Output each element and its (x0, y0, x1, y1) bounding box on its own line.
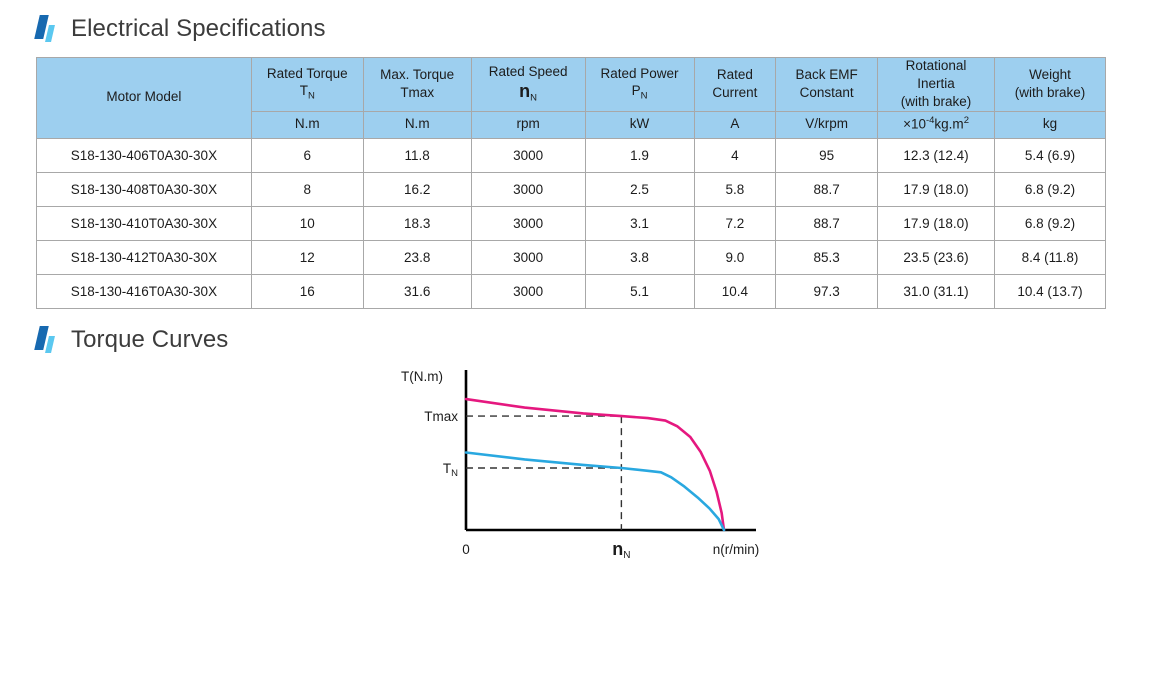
column-header-rated-torque-label: Rated Torque (267, 66, 348, 81)
cell-inertia: 12.3 (12.4) (878, 138, 995, 172)
cell-weight: 10.4 (13.7) (995, 274, 1106, 308)
chart-ytick-tn: TN (443, 461, 458, 479)
cell-rated-torque: 12 (251, 240, 363, 274)
table-body: S18-130-406T0A30-30X611.830001.949512.3 … (37, 138, 1106, 308)
column-header-rated-current-line2: Current (698, 85, 773, 102)
column-header-back-emf-line2: Constant (779, 85, 874, 102)
cell-max-torque: 23.8 (363, 240, 471, 274)
marker-bar-light-icon-2 (45, 336, 55, 353)
cell-rated-current: 7.2 (694, 206, 776, 240)
cell-weight: 6.8 (9.2) (995, 172, 1106, 206)
column-header-rated-power-label: Rated Power (601, 66, 679, 81)
chart-xtick-rated-speed: nN (612, 539, 630, 561)
symbol-P: P (632, 83, 641, 98)
cell-rated-torque: 8 (251, 172, 363, 206)
cell-inertia: 31.0 (31.1) (878, 274, 995, 308)
column-header-rated-power: Rated Power PN (585, 58, 694, 112)
section-heading-torque-curves: Torque Curves (0, 325, 1150, 355)
chart-ytick-tn-symbol: T (443, 461, 451, 476)
cell-rated-speed: 3000 (471, 206, 585, 240)
inertia-unit-suffix: kg.m (934, 117, 963, 132)
cell-inertia: 23.5 (23.6) (878, 240, 995, 274)
column-header-rated-speed-symbol: nN (475, 82, 582, 105)
cell-rated-speed: 3000 (471, 138, 585, 172)
cell-max-torque: 31.6 (363, 274, 471, 308)
cell-model: S18-130-416T0A30-30X (37, 274, 252, 308)
cell-back-emf: 85.3 (776, 240, 878, 274)
cell-back-emf: 97.3 (776, 274, 878, 308)
chart-ytick-tn-subscript: N (451, 468, 458, 479)
column-header-rated-speed-label: Rated Speed (489, 64, 568, 79)
column-header-rated-torque: Rated Torque TN (251, 58, 363, 112)
table-row: S18-130-406T0A30-30X611.830001.949512.3 … (37, 138, 1106, 172)
cell-rated-power: 2.5 (585, 172, 694, 206)
column-header-inertia-line3: (with brake) (881, 94, 991, 111)
symbol-P-subscript: N (641, 91, 648, 102)
column-header-back-emf-constant: Back EMF Constant (776, 58, 878, 112)
cell-rated-speed: 3000 (471, 274, 585, 308)
table-row: S18-130-410T0A30-30X1018.330003.17.288.7… (37, 206, 1106, 240)
column-header-weight: Weight (with brake) (995, 58, 1106, 112)
page-title-torque-curves: Torque Curves (71, 326, 228, 354)
table-header: Motor Model Rated Torque TN Max. Torque … (37, 58, 1106, 139)
unit-header-rated-power: kW (585, 111, 694, 138)
column-header-weight-line2: (with brake) (998, 85, 1102, 102)
table-row: S18-130-412T0A30-30X1223.830003.89.085.3… (37, 240, 1106, 274)
cell-rated-torque: 6 (251, 138, 363, 172)
section-marker-icon (36, 14, 58, 44)
cell-rated-current: 4 (694, 138, 776, 172)
symbol-n-subscript: N (530, 93, 537, 104)
torque-curve-chart: T(N.m) Tmax TN 0 nN n(r/min) (36, 361, 1106, 581)
electrical-specifications-table: Motor Model Rated Torque TN Max. Torque … (36, 57, 1106, 309)
chart-xtick-origin: 0 (462, 542, 470, 557)
chart-series-max-torque (466, 399, 724, 530)
chart-xtick-rated-speed-symbol: n (612, 539, 623, 559)
table-row: S18-130-408T0A30-30X816.230002.55.888.71… (37, 172, 1106, 206)
column-header-rated-torque-symbol: TN (255, 83, 360, 103)
cell-max-torque: 11.8 (363, 138, 471, 172)
marker-bar-light-icon (45, 25, 55, 42)
table-header-row-primary: Motor Model Rated Torque TN Max. Torque … (37, 58, 1106, 112)
cell-rated-speed: 3000 (471, 240, 585, 274)
symbol-T-subscript: N (308, 91, 315, 102)
inertia-unit-suffix-exponent: 2 (964, 115, 969, 126)
cell-weight: 5.4 (6.9) (995, 138, 1106, 172)
column-header-max-torque-symbol: Tmax (367, 85, 468, 102)
cell-max-torque: 18.3 (363, 206, 471, 240)
cell-rated-power: 3.8 (585, 240, 694, 274)
cell-inertia: 17.9 (18.0) (878, 172, 995, 206)
torque-curves-section: Torque Curves T(N.m) Tmax TN 0 nN n(r/mi… (0, 309, 1150, 581)
column-header-back-emf-line1: Back EMF (795, 67, 857, 82)
column-header-rated-speed: Rated Speed nN (471, 58, 585, 112)
cell-inertia: 17.9 (18.0) (878, 206, 995, 240)
column-header-max-torque: Max. Torque Tmax (363, 58, 471, 112)
cell-rated-speed: 3000 (471, 172, 585, 206)
unit-header-back-emf: V/krpm (776, 111, 878, 138)
cell-model: S18-130-410T0A30-30X (37, 206, 252, 240)
cell-rated-torque: 10 (251, 206, 363, 240)
cell-back-emf: 95 (776, 138, 878, 172)
chart-series-rated-torque (466, 452, 724, 530)
column-header-inertia-line2: Inertia (881, 76, 991, 93)
unit-header-max-torque: N.m (363, 111, 471, 138)
cell-rated-power: 1.9 (585, 138, 694, 172)
unit-header-weight: kg (995, 111, 1106, 138)
cell-rated-current: 9.0 (694, 240, 776, 274)
column-header-rotational-inertia: Rotational Inertia (with brake) (878, 58, 995, 112)
section-heading-electrical-specifications: Electrical Specifications (0, 0, 1150, 44)
symbol-T: T (300, 83, 308, 98)
column-header-weight-line1: Weight (1029, 67, 1071, 82)
column-header-motor-model: Motor Model (37, 58, 252, 139)
chart-ytick-tmax: Tmax (424, 409, 458, 424)
spec-table-container: Motor Model Rated Torque TN Max. Torque … (0, 44, 1150, 309)
table-row: S18-130-416T0A30-30X1631.630005.110.497.… (37, 274, 1106, 308)
torque-curve-svg: T(N.m) Tmax TN 0 nN n(r/min) (36, 361, 1106, 576)
cell-weight: 6.8 (9.2) (995, 206, 1106, 240)
cell-rated-current: 5.8 (694, 172, 776, 206)
cell-model: S18-130-408T0A30-30X (37, 172, 252, 206)
page-title-electrical-specifications: Electrical Specifications (71, 15, 326, 43)
column-header-motor-model-label: Motor Model (106, 89, 181, 104)
column-header-rated-current: Rated Current (694, 58, 776, 112)
unit-header-rated-speed: rpm (471, 111, 585, 138)
inertia-unit-prefix: ×10 (903, 117, 926, 132)
column-header-rated-power-symbol: PN (589, 83, 691, 103)
cell-back-emf: 88.7 (776, 172, 878, 206)
chart-x-axis-label: n(r/min) (713, 542, 760, 557)
column-header-rated-current-line1: Rated (717, 67, 753, 82)
cell-weight: 8.4 (11.8) (995, 240, 1106, 274)
cell-model: S18-130-406T0A30-30X (37, 138, 252, 172)
column-header-max-torque-label: Max. Torque (380, 67, 454, 82)
cell-rated-power: 3.1 (585, 206, 694, 240)
cell-max-torque: 16.2 (363, 172, 471, 206)
cell-model: S18-130-412T0A30-30X (37, 240, 252, 274)
cell-rated-current: 10.4 (694, 274, 776, 308)
chart-y-axis-label: T(N.m) (401, 369, 443, 384)
cell-rated-torque: 16 (251, 274, 363, 308)
unit-header-rated-current: A (694, 111, 776, 138)
column-header-inertia-line1: Rotational (906, 58, 967, 73)
unit-header-rated-torque: N.m (251, 111, 363, 138)
cell-back-emf: 88.7 (776, 206, 878, 240)
symbol-n: n (519, 81, 530, 101)
unit-header-rotational-inertia: ×10-4kg.m2 (878, 111, 995, 138)
section-marker-icon-2 (36, 325, 58, 355)
chart-xtick-rated-speed-subscript: N (623, 550, 630, 561)
cell-rated-power: 5.1 (585, 274, 694, 308)
